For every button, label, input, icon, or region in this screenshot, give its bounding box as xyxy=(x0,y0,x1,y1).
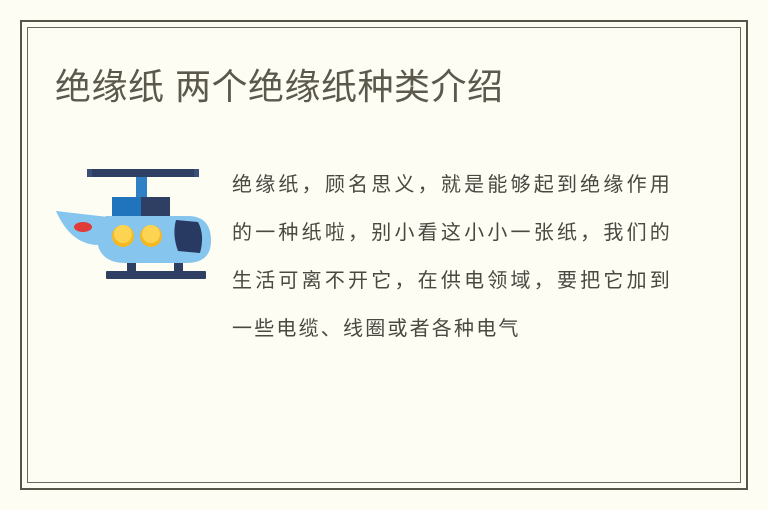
page-title: 绝缘纸 两个绝缘纸种类介绍 xyxy=(55,64,504,110)
helicopter-icon xyxy=(48,165,218,280)
article-card: 绝缘纸 两个绝缘纸种类介绍 xyxy=(0,0,768,510)
article-content: 绝缘纸，顾名思义，就是能够起到绝缘作用的一种纸啦，别小看这小小一张纸，我们的生活… xyxy=(48,160,708,420)
article-body: 绝缘纸，顾名思义，就是能够起到绝缘作用的一种纸啦，别小看这小小一张纸，我们的生活… xyxy=(232,160,672,352)
